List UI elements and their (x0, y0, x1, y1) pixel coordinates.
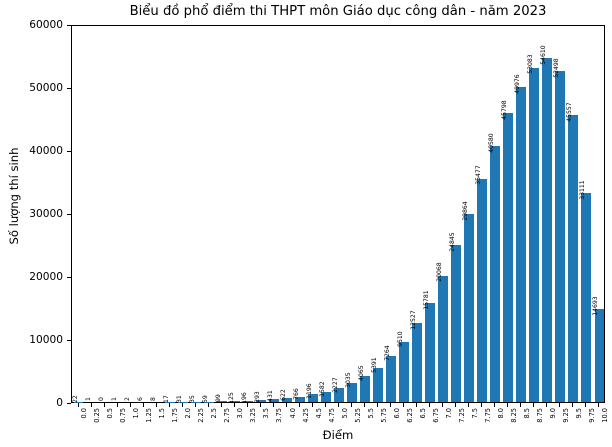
bar-slot: 6 (137, 26, 150, 402)
x-axis-tick-label: 8.5 (523, 408, 531, 419)
bar-value-label: 24845 (450, 233, 456, 252)
x-axis-tick-label: 3.5 (262, 408, 270, 419)
bar-value-label: 29864 (463, 201, 469, 220)
x-axis-tick-label: 9.5 (575, 408, 583, 419)
x-axis-tick-label: 3.25 (249, 408, 257, 423)
y-axis-tick-label: 10000 (29, 334, 63, 346)
x-axis-tick-mark (299, 403, 300, 407)
x-axis-tick-mark (520, 403, 521, 407)
bar-value-label: 40580 (489, 134, 495, 153)
x-axis-tick-label: 7.75 (484, 408, 492, 423)
bar[interactable] (490, 146, 500, 402)
bar-value-label: 3035 (346, 372, 352, 388)
bar[interactable] (412, 323, 422, 402)
bar-slot: 12527 (411, 26, 424, 402)
y-axis-tick-label: 50000 (29, 82, 63, 94)
bar-value-label: 35477 (476, 166, 482, 185)
x-axis-tick-mark (598, 403, 599, 407)
bar-value-label: 293 (255, 391, 261, 403)
x-axis-tick-label: 3.75 (275, 408, 283, 423)
bar-value-label: 59 (203, 395, 209, 403)
x-axis-tick-label: 9.0 (549, 408, 557, 419)
bar-value-label: 52498 (554, 59, 560, 78)
bar[interactable] (516, 87, 526, 402)
x-axis-tick-mark (169, 403, 170, 407)
bar-value-label: 1196 (307, 384, 313, 400)
bar[interactable] (477, 179, 487, 403)
bar-value-label: 766 (294, 388, 300, 400)
x-axis-tick-label: 4.75 (328, 408, 336, 423)
x-axis-tick-mark (143, 403, 144, 407)
y-axis-tick-label: 0 (56, 397, 63, 409)
bar[interactable] (595, 309, 605, 402)
bar-value-label: 14693 (593, 297, 599, 316)
bar-value-label: 5391 (372, 357, 378, 373)
bar[interactable] (399, 342, 409, 402)
x-axis-tick-mark (234, 403, 235, 407)
x-axis-tick-label: 2.75 (223, 408, 231, 423)
bar-slot: 1582 (319, 26, 332, 402)
bar-value-label: 8 (151, 397, 157, 401)
bar-slot: 1196 (306, 26, 319, 402)
x-axis-tick-mark (104, 403, 105, 407)
bar-slot: 45798 (502, 26, 515, 402)
plot-area: 2210126817313559991251962934316227661196… (71, 25, 605, 403)
bar[interactable] (386, 356, 396, 402)
bar-slot: 431 (267, 26, 280, 402)
y-axis-tick-label: 20000 (29, 271, 63, 283)
x-axis-tick-mark (208, 403, 209, 407)
bar[interactable] (568, 115, 578, 402)
bar-value-label: 45798 (502, 101, 508, 120)
bar[interactable] (451, 245, 461, 402)
y-axis-tick-label: 40000 (29, 145, 63, 157)
x-axis-tick-label: 2.5 (210, 408, 218, 419)
bar-slot: 622 (280, 26, 293, 402)
x-axis-tick-label: 10.0 (601, 408, 609, 423)
x-axis-tick-label: 0.5 (106, 408, 114, 419)
x-axis-tick-mark (390, 403, 391, 407)
bar-slot: 33111 (580, 26, 593, 402)
bar-value-label: 6 (138, 397, 144, 401)
x-axis-tick-label: 4.0 (289, 408, 297, 419)
x-axis-tick-label: 9.25 (562, 408, 570, 423)
x-axis-tick-label: 0.75 (119, 408, 127, 423)
bar-value-label: 54610 (541, 45, 547, 64)
x-axis-tick-label: 6.25 (406, 408, 414, 423)
x-axis-tick-mark (429, 403, 430, 407)
x-axis-tick-label: 8.25 (510, 408, 518, 423)
x-axis-tick-label: 2.0 (184, 408, 192, 419)
bar-slot: 2 (124, 26, 137, 402)
x-axis-tick-label: 0.25 (93, 408, 101, 423)
x-axis-tick-label: 8.0 (497, 408, 505, 419)
bar-value-label: 1582 (320, 381, 326, 397)
x-axis-tick-mark (338, 403, 339, 407)
bar-value-label: 0 (98, 397, 104, 401)
x-axis-tick-label: 1.5 (158, 408, 166, 419)
bar-slot: 766 (293, 26, 306, 402)
bar-value-label: 9510 (398, 331, 404, 347)
x-axis-tick-mark (78, 403, 79, 407)
bar-value-label: 622 (281, 389, 287, 401)
x-axis-tick-label: 1.75 (171, 408, 179, 423)
bar[interactable] (581, 193, 591, 402)
bar-slot: 17 (163, 26, 176, 402)
bar-value-label: 2227 (333, 377, 339, 393)
x-axis-tick-mark (247, 403, 248, 407)
x-axis-tick-label: 5.75 (380, 408, 388, 423)
bar-value-label: 31 (177, 395, 183, 403)
bar-slot: 31 (176, 26, 189, 402)
bar-value-label: 33111 (580, 181, 586, 200)
x-axis-tick-mark (91, 403, 92, 407)
x-axis-tick-mark (494, 403, 495, 407)
x-axis-tick-mark (585, 403, 586, 407)
bar-slot: 125 (228, 26, 241, 402)
x-axis-tick-mark (117, 403, 118, 407)
bar-slot: 53083 (528, 26, 541, 402)
x-axis-title: Điểm (71, 428, 605, 442)
bar-value-label: 99 (216, 395, 222, 403)
x-axis-tick-label: 5.0 (341, 408, 349, 419)
x-axis-tick-mark (195, 403, 196, 407)
bar-slot: 1 (85, 26, 98, 402)
x-axis-tick-mark (182, 403, 183, 407)
x-axis-tick-label: 7.5 (471, 408, 479, 419)
x-axis-tick-label: 7.0 (445, 408, 453, 419)
bar-value-label: 2 (125, 397, 131, 401)
bar[interactable] (542, 58, 552, 402)
bar-value-label: 7264 (385, 345, 391, 361)
bar-value-label: 49976 (515, 74, 521, 93)
x-axis-tick-mark (130, 403, 131, 407)
bar[interactable] (529, 68, 539, 402)
x-axis-tick-label: 6.0 (393, 408, 401, 419)
x-axis-tick-label: 1.0 (132, 408, 140, 419)
bar-slot: 15781 (424, 26, 437, 402)
x-axis-tick-mark (559, 403, 560, 407)
bar-value-label: 45557 (567, 102, 573, 121)
x-axis-tick-mark (260, 403, 261, 407)
x-axis-tick-mark (351, 403, 352, 407)
bar-value-label: 35 (190, 395, 196, 403)
bar-slot: 9510 (398, 26, 411, 402)
bar-slot: 99 (215, 26, 228, 402)
bar-slot: 7264 (385, 26, 398, 402)
x-axis-tick-label: 5.5 (367, 408, 375, 419)
bar-value-label: 53083 (528, 55, 534, 74)
bar-value-label: 17 (164, 395, 170, 403)
x-axis-tick-mark (442, 403, 443, 407)
y-axis-tick-label: 30000 (29, 208, 63, 220)
x-axis-tick-mark (403, 403, 404, 407)
bar-slot: 54610 (541, 26, 554, 402)
bar-slot: 40580 (489, 26, 502, 402)
bar[interactable] (503, 113, 513, 402)
bar-slot: 293 (254, 26, 267, 402)
x-axis-tick-label: 5.25 (354, 408, 362, 423)
bar-slot: 35477 (476, 26, 489, 402)
bar-slot: 0 (98, 26, 111, 402)
x-axis-tick-label: 2.25 (197, 408, 205, 423)
x-axis-tick-mark (546, 403, 547, 407)
x-axis-tick-mark (416, 403, 417, 407)
bar-value-label: 15781 (424, 290, 430, 309)
bar[interactable] (438, 276, 448, 402)
x-axis-tick-mark (221, 403, 222, 407)
x-axis-tick-label: 3.0 (236, 408, 244, 419)
x-axis-tick-label: 7.25 (458, 408, 466, 423)
bar-value-label: 4065 (359, 366, 365, 382)
x-axis-tick-mark (325, 403, 326, 407)
bar-slot: 4065 (359, 26, 372, 402)
bar-value-label: 12527 (411, 310, 417, 329)
x-axis-tick-label: 4.5 (315, 408, 323, 419)
x-axis-tick-label: 6.5 (419, 408, 427, 419)
x-axis-tick-mark (481, 403, 482, 407)
x-axis-tick-label: 1.25 (145, 408, 153, 423)
bar-slot: 3035 (346, 26, 359, 402)
chart-figure: Biểu đồ phổ điểm thi THPT môn Giáo dục c… (0, 0, 612, 447)
bar[interactable] (464, 214, 474, 402)
bar-series: 2210126817313559991251962934316227661196… (72, 26, 604, 402)
x-axis-tick-mark (572, 403, 573, 407)
x-axis-tick-mark (312, 403, 313, 407)
bar-slot: 2227 (332, 26, 345, 402)
bar-slot: 196 (241, 26, 254, 402)
bar-slot: 49976 (515, 26, 528, 402)
bar-slot: 5391 (372, 26, 385, 402)
bar[interactable] (555, 71, 565, 402)
bar-slot: 8 (150, 26, 163, 402)
bar-slot: 29864 (463, 26, 476, 402)
x-axis-tick-label: 0.0 (80, 408, 88, 419)
bar-value-label: 22 (72, 395, 78, 403)
x-axis-tick-label: 8.75 (536, 408, 544, 423)
chart-title: Biểu đồ phổ điểm thi THPT môn Giáo dục c… (71, 4, 605, 19)
bar-slot: 20068 (437, 26, 450, 402)
bar-value-label: 1 (111, 397, 117, 401)
x-axis-tick-mark (364, 403, 365, 407)
bar-slot: 59 (202, 26, 215, 402)
x-axis-tick-mark (533, 403, 534, 407)
x-axis-tick-label: 9.75 (588, 408, 596, 423)
y-axis-tick-labels: 0100002000030000400005000060000 (0, 25, 68, 403)
x-axis-tick-mark (468, 403, 469, 407)
bar[interactable] (373, 368, 383, 402)
y-axis-tick-label: 60000 (29, 19, 63, 31)
bar[interactable] (425, 303, 435, 402)
bar-slot: 35 (189, 26, 202, 402)
x-axis-tick-mark (156, 403, 157, 407)
bar-value-label: 196 (242, 392, 248, 404)
x-axis-tick-mark (455, 403, 456, 407)
bar-value-label: 1 (85, 397, 91, 401)
x-axis-tick-label: 4.25 (302, 408, 310, 423)
bar-slot: 22 (72, 26, 85, 402)
x-axis-tick-mark (377, 403, 378, 407)
x-axis-tick-label: 6.75 (432, 408, 440, 423)
x-axis-tick-mark (507, 403, 508, 407)
bar-slot: 52498 (554, 26, 567, 402)
bar-value-label: 431 (268, 390, 274, 402)
bar-slot: 24845 (450, 26, 463, 402)
bar-slot: 1 (111, 26, 124, 402)
bar-value-label: 20068 (437, 263, 443, 282)
bar-slot: 14693 (593, 26, 606, 402)
bar-slot: 45557 (567, 26, 580, 402)
x-axis-tick-mark (273, 403, 274, 407)
x-axis-tick-mark (286, 403, 287, 407)
